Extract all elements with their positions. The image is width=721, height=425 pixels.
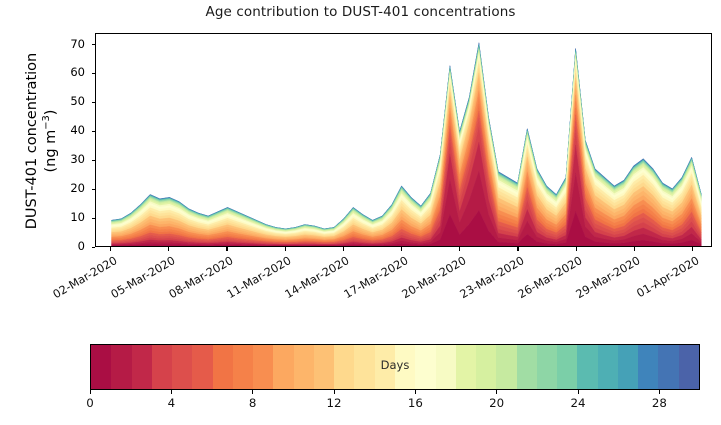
colorbar-band-4 (172, 345, 192, 389)
colorbar-tick-label: 4 (151, 396, 191, 410)
x-tick-mark (285, 247, 286, 251)
colorbar-band-15 (395, 345, 415, 389)
y-tick-label: 20 (45, 181, 85, 195)
colorbar-band-11 (314, 345, 334, 389)
colorbar-tick-label: 0 (70, 396, 110, 410)
colorbar-tick-label: 24 (558, 396, 598, 410)
colorbar-band-29 (679, 345, 699, 389)
colorbar-band-28 (658, 345, 678, 389)
colorbar-band-7 (233, 345, 253, 389)
colorbar-band-6 (213, 345, 233, 389)
y-tick-mark (92, 102, 96, 103)
colorbar-band-16 (415, 345, 435, 389)
x-tick-mark (634, 247, 635, 251)
plot-clip (96, 34, 711, 246)
colorbar-band-12 (334, 345, 354, 389)
colorbar-tick-label: 16 (395, 396, 435, 410)
colorbar-band-0 (91, 345, 111, 389)
y-tick-mark (92, 160, 96, 161)
colorbar-band-9 (273, 345, 293, 389)
y-tick-mark (92, 247, 96, 248)
colorbar-tick-mark (578, 390, 579, 394)
colorbar-tick-mark (415, 390, 416, 394)
x-tick-mark (168, 247, 169, 251)
y-tick-label: 50 (45, 94, 85, 108)
x-tick-mark (110, 247, 111, 251)
y-tick-label: 70 (45, 37, 85, 51)
colorbar-band-10 (294, 345, 314, 389)
x-tick-mark (576, 247, 577, 251)
colorbar-tick-label: 20 (477, 396, 517, 410)
y-tick-label: 10 (45, 210, 85, 224)
colorbar-band-2 (132, 345, 152, 389)
colorbar-tick-label: 28 (639, 396, 679, 410)
colorbar-tick-mark (171, 390, 172, 394)
colorbar-tick-label: 12 (314, 396, 354, 410)
y-axis-label-line1: DUST-401 concentration (24, 53, 40, 229)
colorbar-band-27 (638, 345, 658, 389)
chart-title: Age contribution to DUST-401 concentrati… (0, 4, 721, 20)
colorbar-band-3 (152, 345, 172, 389)
x-tick-mark (517, 247, 518, 251)
x-tick-mark (459, 247, 460, 251)
colorbar-tick-label: 8 (233, 396, 273, 410)
colorbar[interactable] (90, 344, 700, 390)
colorbar-band-17 (436, 345, 456, 389)
colorbar-band-19 (476, 345, 496, 389)
x-tick-mark (226, 247, 227, 251)
chart-root: Age contribution to DUST-401 concentrati… (0, 0, 721, 425)
colorbar-band-21 (517, 345, 537, 389)
x-tick-mark (401, 247, 402, 251)
y-tick-label: 30 (45, 152, 85, 166)
x-tick-mark (692, 247, 693, 251)
colorbar-band-26 (618, 345, 638, 389)
colorbar-band-18 (456, 345, 476, 389)
y-tick-label: 60 (45, 65, 85, 79)
y-tick-label: 40 (45, 123, 85, 137)
colorbar-tick-mark (496, 390, 497, 394)
x-tick-mark (343, 247, 344, 251)
colorbar-band-22 (537, 345, 557, 389)
colorbar-band-24 (577, 345, 597, 389)
y-tick-mark (92, 189, 96, 190)
colorbar-band-23 (557, 345, 577, 389)
colorbar-band-20 (496, 345, 516, 389)
plot-area (95, 33, 712, 247)
colorbar-tick-mark (252, 390, 253, 394)
colorbar-band-25 (598, 345, 618, 389)
colorbar-tick-mark (659, 390, 660, 394)
colorbar-tick-mark (90, 390, 91, 394)
colorbar-band-5 (192, 345, 212, 389)
y-tick-mark (92, 73, 96, 74)
y-tick-mark (92, 218, 96, 219)
colorbar-band-13 (354, 345, 374, 389)
colorbar-band-8 (253, 345, 273, 389)
colorbar-band-14 (375, 345, 395, 389)
colorbar-tick-mark (334, 390, 335, 394)
stacked-area-series (96, 34, 711, 246)
colorbar-band-1 (111, 345, 131, 389)
y-tick-mark (92, 131, 96, 132)
y-tick-mark (92, 44, 96, 45)
y-tick-label: 0 (45, 239, 85, 253)
colorbar-gradient (91, 345, 699, 389)
